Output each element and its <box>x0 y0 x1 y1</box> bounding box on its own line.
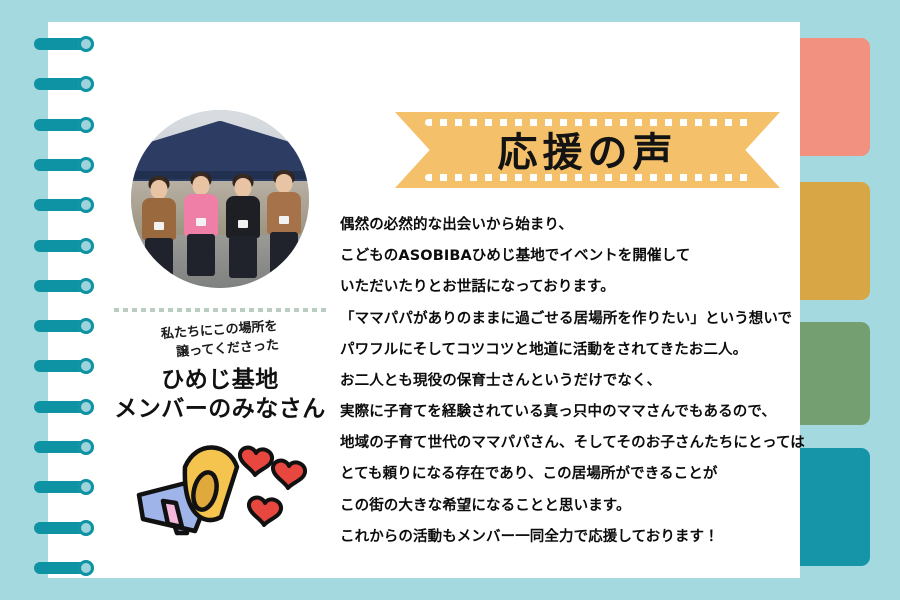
poster-canvas: 私たちにこの場所を 譲ってくださった ひめじ基地 メンバーのみなさん <box>0 0 900 600</box>
testimonial-line: パワフルにそしてコツコツと地道に活動をされてきたお二人。 <box>340 335 840 366</box>
caption-big: ひめじ基地 メンバーのみなさん <box>95 366 345 425</box>
heart-icon <box>240 447 272 474</box>
photo-person <box>264 174 304 284</box>
testimonial-line: 「ママパパがありのままに過ごせる居場所を作りたい」という想いで <box>340 304 840 335</box>
right-column: 応援の声 偶然の必然的な出会いから始まり、こどものASOBIBAひめじ基地でイベ… <box>340 112 840 553</box>
testimonial-line: いただいたりとお世話になっております。 <box>340 272 840 303</box>
heart-icon <box>249 497 281 524</box>
testimonial-line: これからの活動もメンバー一同全力で応援しております！ <box>340 522 840 553</box>
testimonial-line: この街の大きな希望になることと思います。 <box>340 491 840 522</box>
testimonial-line: お二人とも現役の保育士さんというだけでなく、 <box>340 366 840 397</box>
testimonial-text: 偶然の必然的な出会いから始まり、こどものASOBIBAひめじ基地でイベントを開催… <box>340 210 840 553</box>
testimonial-line: こどものASOBIBAひめじ基地でイベントを開催して <box>340 241 840 272</box>
caption-big-line1: ひめじ基地 <box>95 366 345 395</box>
member-photo <box>131 110 309 288</box>
heart-icon <box>273 460 305 487</box>
testimonial-line: 偶然の必然的な出会いから始まり、 <box>340 210 840 241</box>
testimonial-line: 実際に子育てを経験されている真っ只中のママさんでもあるので、 <box>340 397 840 428</box>
caption-small: 私たちにこの場所を 譲ってくださった <box>94 313 346 368</box>
ribbon-title: 応援の声 <box>395 112 780 188</box>
ribbon-banner: 応援の声 <box>395 112 780 188</box>
photo-person <box>139 180 179 284</box>
testimonial-line: とても頼りになる存在であり、この居場所ができることが <box>340 459 840 490</box>
photo-person <box>181 176 221 284</box>
megaphone-icon <box>125 433 315 545</box>
photo-person <box>223 178 263 284</box>
caption-big-line2: メンバーのみなさん <box>95 395 345 424</box>
testimonial-line: 地域の子育て世代のママパパさん、そしてそのお子さんたちにとっては <box>340 428 840 459</box>
left-column: 私たちにこの場所を 譲ってくださった ひめじ基地 メンバーのみなさん <box>95 110 345 545</box>
dashed-divider <box>114 308 326 312</box>
